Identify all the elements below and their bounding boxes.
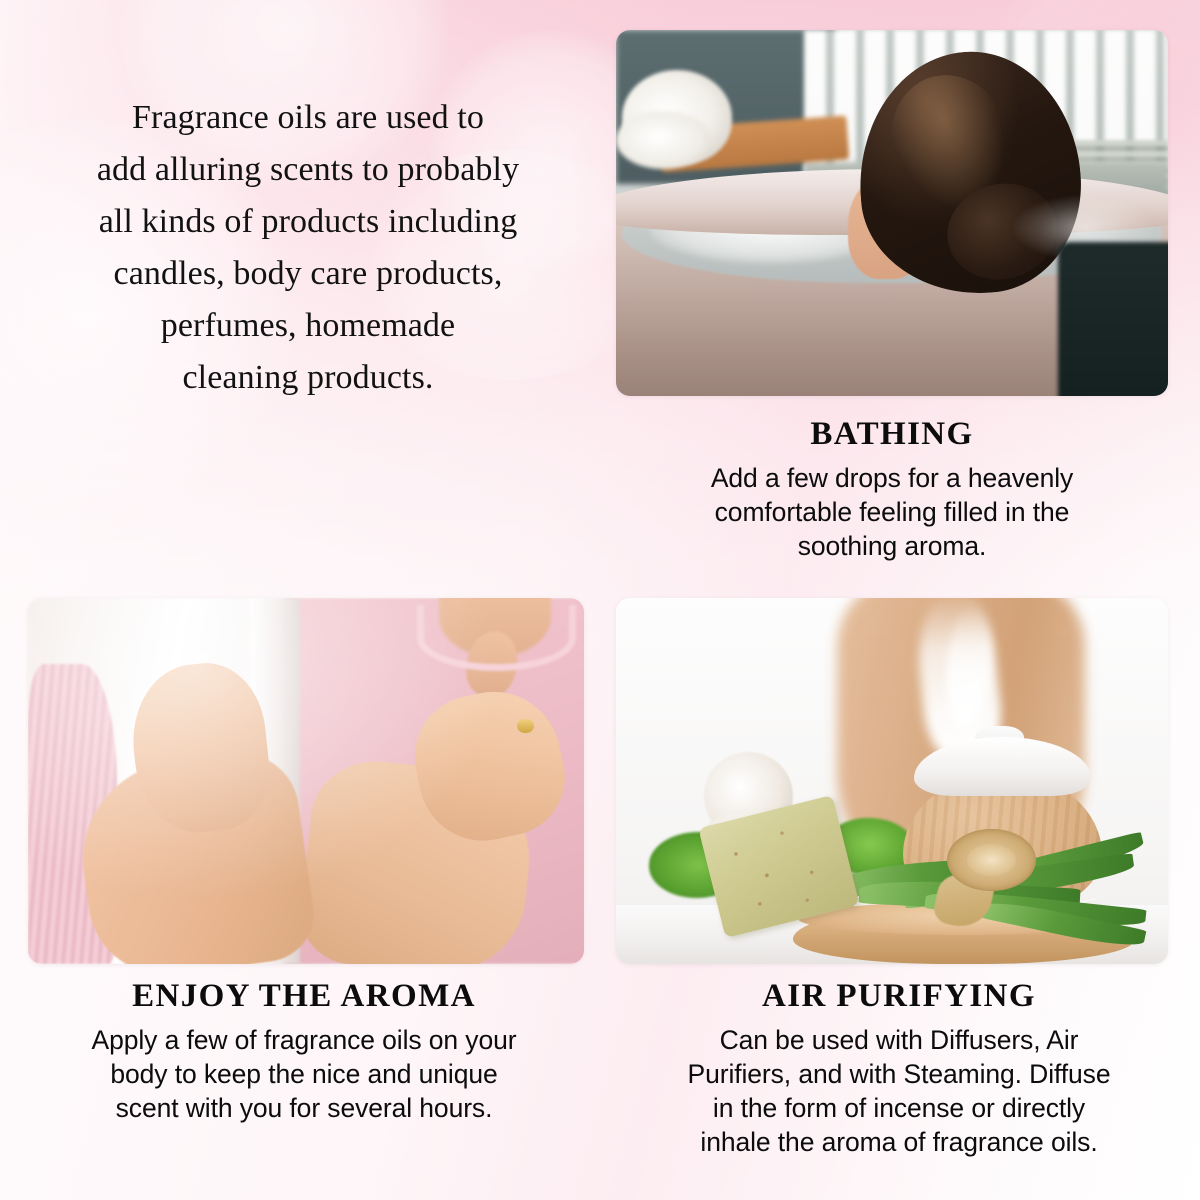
air-purifying-title: AIR PURIFYING xyxy=(616,976,1182,1016)
bathing-body-line-1: Add a few drops for a heavenly xyxy=(616,461,1168,495)
intro-line-5: perfumes, homemade xyxy=(30,300,586,352)
intro-line-2: add alluring scents to probably xyxy=(30,144,586,196)
aroma-body-line-1: Apply a few of fragrance oils on your xyxy=(16,1023,592,1057)
bathing-body-line-3: soothing aroma. xyxy=(616,529,1168,563)
woman-applying-perfume-photo xyxy=(28,598,584,964)
fragrance-oil-usage-poster: Fragrance oils are used to add alluring … xyxy=(0,0,1200,1200)
bathing-caption: BATHING Add a few drops for a heavenly c… xyxy=(616,414,1168,563)
intro-line-4: candles, body care products, xyxy=(30,248,586,300)
twine-bow-knot xyxy=(947,829,1035,891)
intro-paragraph: Fragrance oils are used to add alluring … xyxy=(30,92,586,404)
aroma-title: ENJOY THE AROMA xyxy=(16,976,592,1016)
air-purifying-body-line-3: in the form of incense or directly xyxy=(616,1091,1182,1125)
air-purifying-body-line-4: inhale the aroma of fragrance oils. xyxy=(616,1125,1182,1159)
intro-line-6: cleaning products. xyxy=(30,352,586,404)
bathing-image-card xyxy=(616,30,1168,396)
rolled-towel-second xyxy=(616,111,710,170)
bathing-body-line-2: comfortable feeling filled in the xyxy=(616,495,1168,529)
air-purifying-body-line-2: Purifiers, and with Steaming. Diffuse xyxy=(616,1057,1182,1091)
air-purifying-body-line-1: Can be used with Diffusers, Air xyxy=(616,1023,1182,1057)
woman-in-bathtub-photo xyxy=(616,30,1168,396)
intro-line-1: Fragrance oils are used to xyxy=(30,92,586,144)
soft-light-glow xyxy=(28,598,584,964)
dark-foreground-edge xyxy=(1058,242,1168,396)
bathing-title: BATHING xyxy=(616,414,1168,454)
air-purifying-image-card xyxy=(616,598,1168,964)
intro-line-3: all kinds of products including xyxy=(30,196,586,248)
aroma-body-line-3: scent with you for several hours. xyxy=(16,1091,592,1125)
aroma-caption: ENJOY THE AROMA Apply a few of fragrance… xyxy=(16,976,592,1125)
wood-diffuser-soap-aloe-photo xyxy=(616,598,1168,964)
aroma-body-line-2: body to keep the nice and unique xyxy=(16,1057,592,1091)
air-purifying-caption: AIR PURIFYING Can be used with Diffusers… xyxy=(616,976,1182,1159)
aroma-image-card xyxy=(28,598,584,964)
